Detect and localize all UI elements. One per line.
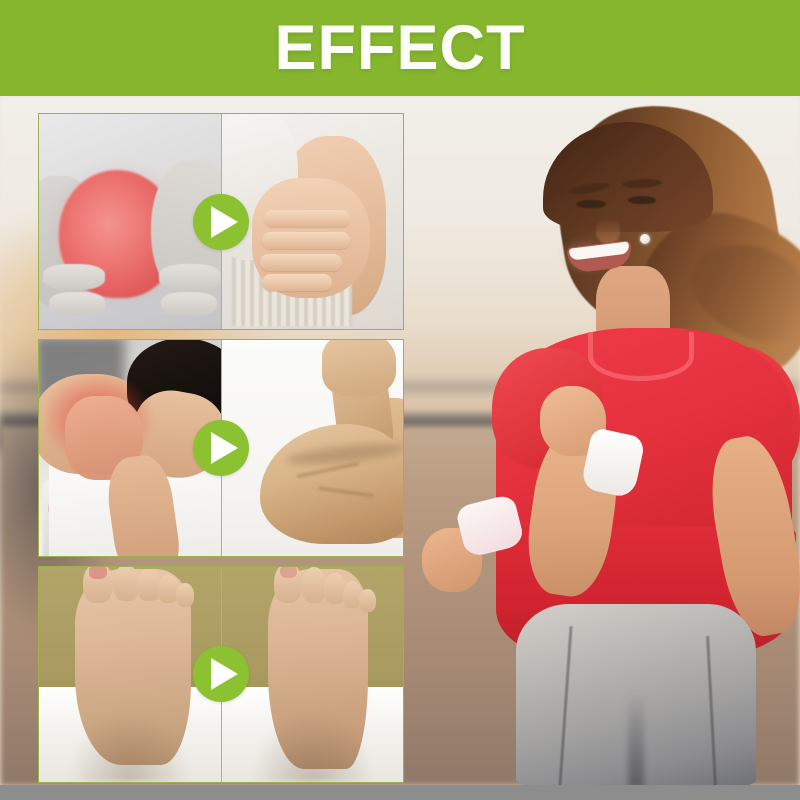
before-after-comparison-collage [38, 113, 404, 783]
header-banner: EFFECT [0, 0, 800, 96]
finger [262, 274, 332, 291]
comparison-row-foot[interactable] [38, 566, 404, 783]
nose [596, 218, 620, 244]
clenched-fist [322, 340, 396, 396]
running-woman-photo [400, 96, 800, 785]
play-triangle-icon [211, 658, 238, 690]
finger [262, 232, 350, 249]
finger [49, 292, 105, 316]
page-title: EFFECT [275, 17, 526, 80]
finger [260, 254, 342, 271]
comparison-row-knee[interactable] [38, 113, 404, 330]
toenail [89, 567, 107, 579]
eye-right [628, 196, 656, 204]
toe [302, 567, 326, 603]
product-effect-banner: EFFECT [0, 0, 800, 800]
play-triangle-icon [211, 206, 238, 238]
play-button-shoulder[interactable] [193, 420, 249, 476]
comparison-row-shoulder[interactable] [38, 339, 404, 556]
toe [359, 589, 376, 612]
ankle-shadow [68, 709, 191, 782]
finger [159, 264, 221, 290]
shirt-collar [588, 332, 694, 381]
finger [264, 210, 350, 227]
toe [176, 583, 194, 607]
hero-photo-stage [0, 96, 800, 785]
toe [113, 567, 139, 601]
earring [640, 234, 650, 244]
eye-left [576, 200, 606, 208]
finger [43, 264, 105, 290]
play-triangle-icon [211, 432, 238, 464]
play-button-foot[interactable] [193, 646, 249, 702]
play-button-knee[interactable] [193, 194, 249, 250]
leggings-inner-shadow [628, 692, 644, 785]
finger [161, 292, 217, 316]
toenail [280, 567, 297, 578]
ankle-shadow [251, 709, 374, 782]
bottom-gray-band [0, 785, 800, 800]
